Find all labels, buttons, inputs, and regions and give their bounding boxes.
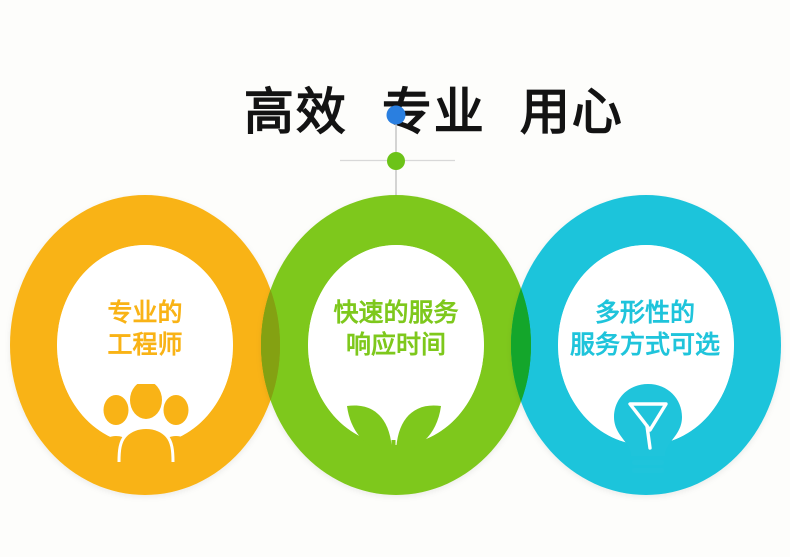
sprout-leaf-icon <box>335 380 453 475</box>
infographic-canvas: 高效专业用心 <box>0 0 790 557</box>
lightbulb-icon <box>600 382 696 474</box>
people-group-icon <box>92 384 200 462</box>
